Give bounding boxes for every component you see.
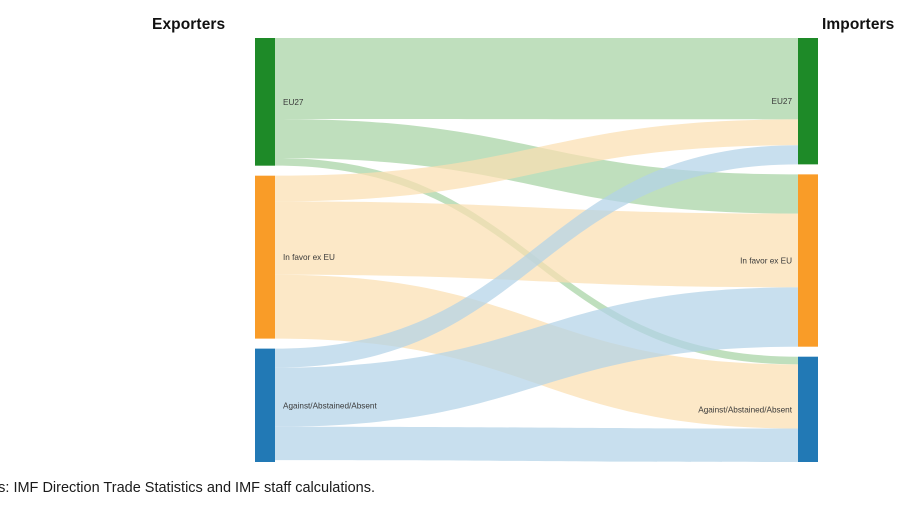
- sankey-link: [275, 201, 798, 287]
- sankey-node-imp-against[interactable]: [798, 357, 818, 462]
- sankey-node-exp-eu27[interactable]: [255, 38, 275, 166]
- sankey-node-label: EU27: [283, 98, 304, 107]
- sankey-node-label: Against/Abstained/Absent: [698, 405, 792, 414]
- sankey-node-label: EU27: [772, 97, 793, 106]
- sankey-links-group: [275, 38, 798, 462]
- sankey-node-exp-infavor[interactable]: [255, 176, 275, 339]
- figure-page: Exporters Importers EU27In favor ex EUAg…: [0, 0, 900, 510]
- sankey-link: [275, 427, 798, 462]
- sankey-node-label: In favor ex EU: [740, 257, 792, 266]
- sankey-node-label: In favor ex EU: [283, 253, 335, 262]
- sankey-diagram: EU27In favor ex EUAgainst/Abstained/Abse…: [0, 30, 900, 470]
- sankey-node-exp-against[interactable]: [255, 349, 275, 462]
- sankey-node-imp-eu27[interactable]: [798, 38, 818, 164]
- sankey-node-imp-infavor[interactable]: [798, 174, 818, 346]
- sankey-link: [275, 38, 798, 119]
- sankey-node-label: Against/Abstained/Absent: [283, 401, 377, 410]
- source-note: rces: IMF Direction Trade Statistics and…: [0, 480, 678, 496]
